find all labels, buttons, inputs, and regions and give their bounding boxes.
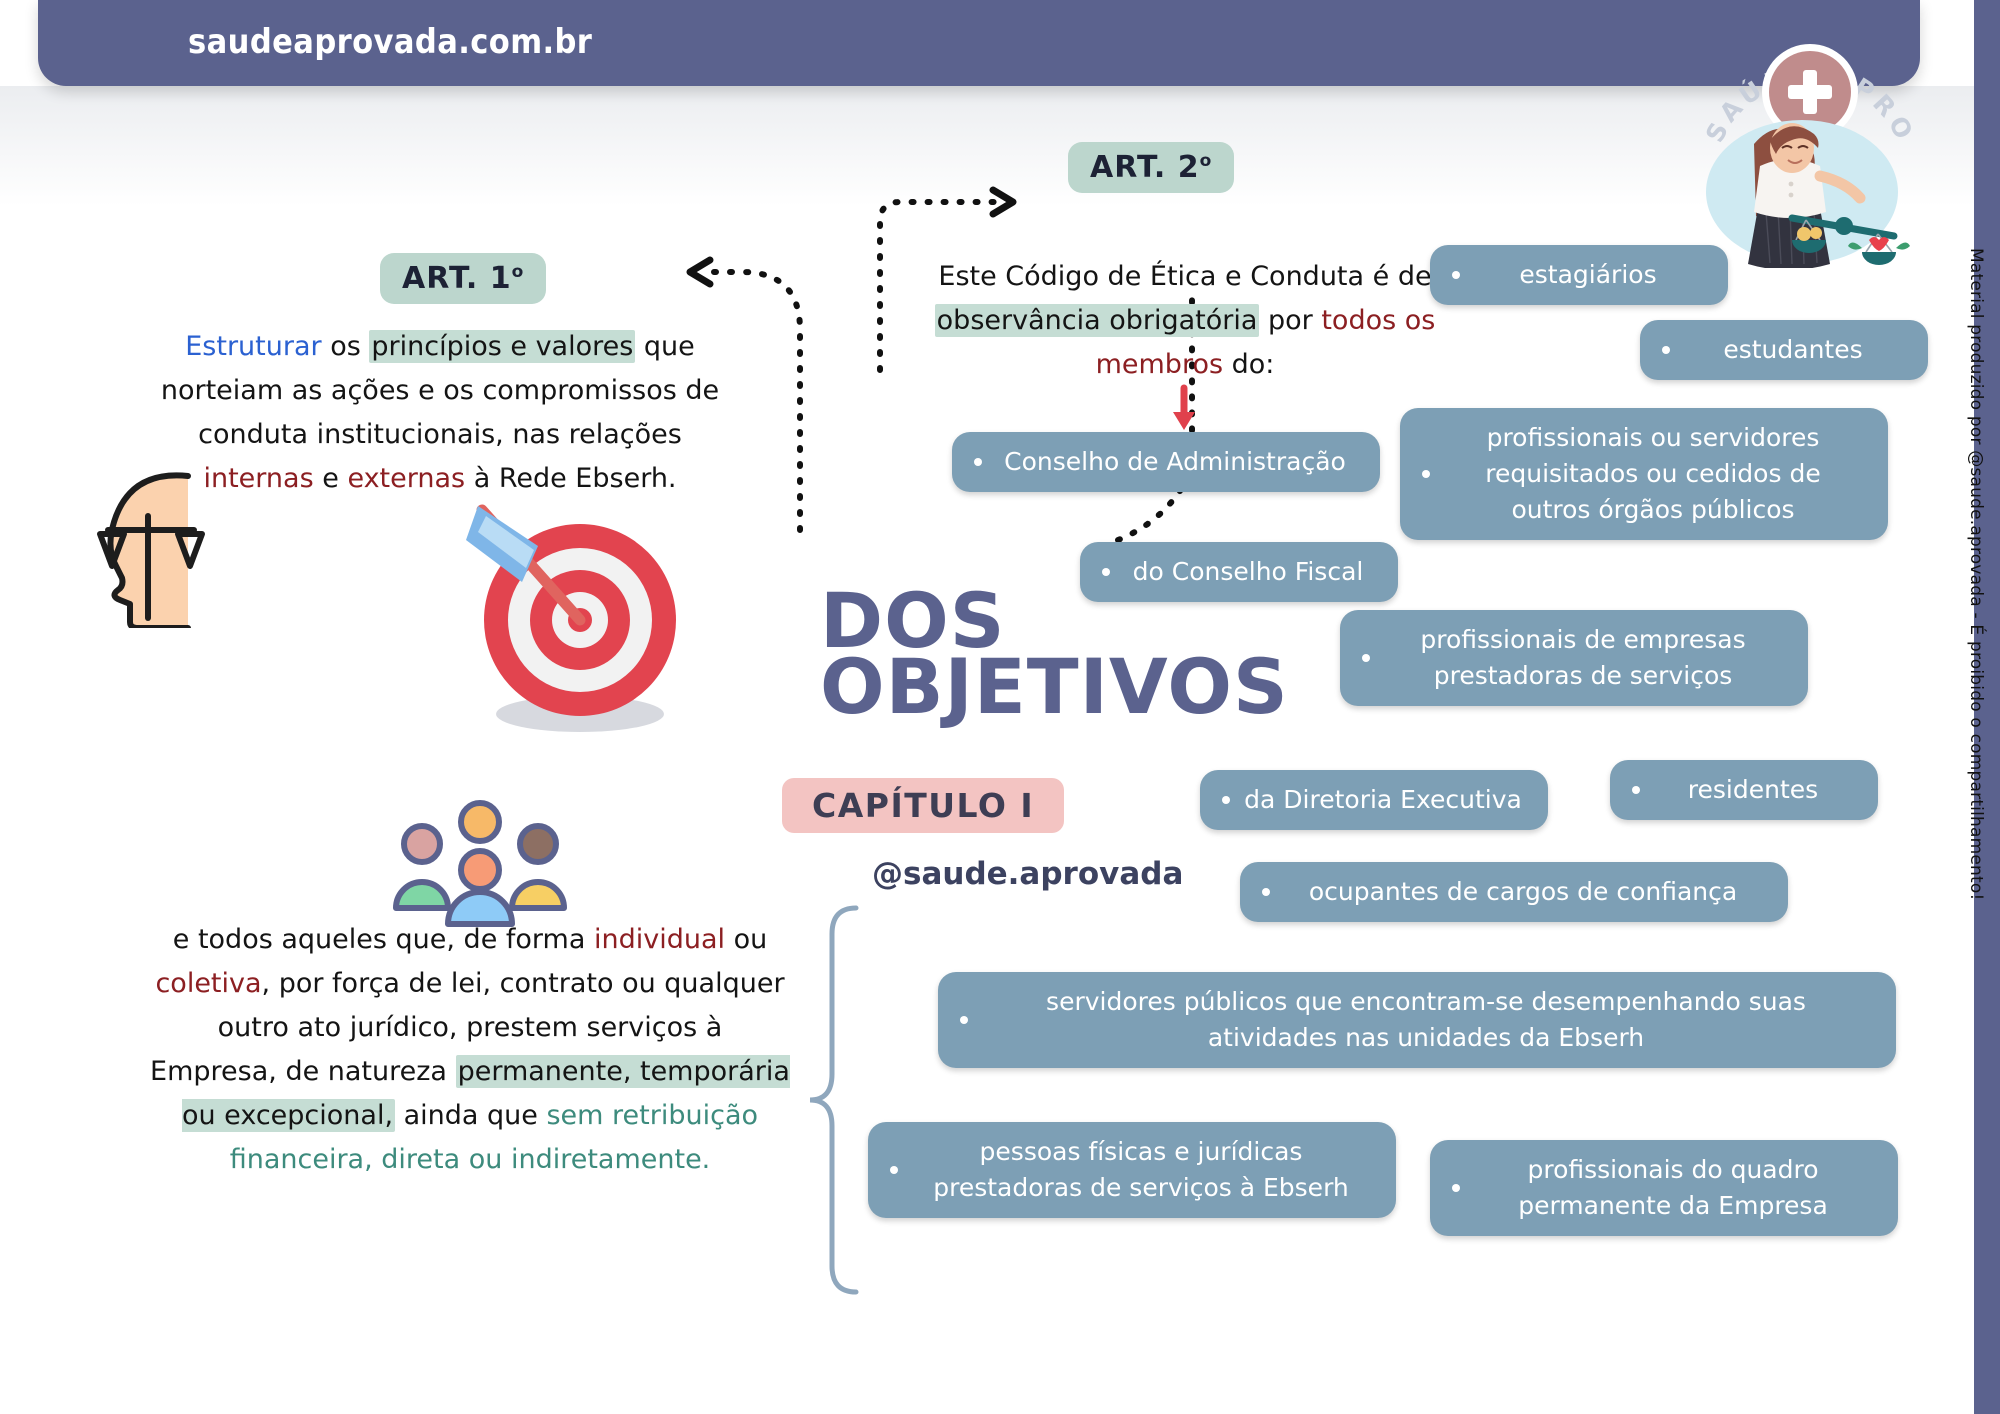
list-item[interactable]: da Diretoria Executiva	[1200, 770, 1548, 830]
bullet-icon	[1262, 888, 1270, 896]
member-label: do Conselho Fiscal	[1124, 554, 1372, 590]
member-label: residentes	[1654, 772, 1852, 808]
list-item[interactable]: servidores públicos que encontram-se des…	[938, 972, 1896, 1068]
art3-seg-1: individual	[594, 924, 725, 955]
art1-seg-5: e	[314, 463, 348, 494]
red-down-arrow-icon	[1173, 388, 1195, 430]
art1-seg-6: externas	[347, 463, 465, 494]
copyright-note: Material produzido por @saude.aprovada -…	[1966, 248, 1986, 901]
site-url: saudeaprovada.com.br	[188, 22, 592, 62]
list-item[interactable]: ocupantes de cargos de confiança	[1240, 862, 1788, 922]
chapter-badge: CAPÍTULO I	[782, 778, 1064, 833]
list-item[interactable]: profissionais de empresas prestadoras de…	[1340, 610, 1808, 706]
member-label: da Diretoria Executiva	[1244, 782, 1522, 818]
bullet-icon	[1222, 796, 1230, 804]
member-label: profissionais ou servidores requisitados…	[1444, 420, 1862, 528]
bullet-icon	[974, 458, 982, 466]
bullet-icon	[890, 1166, 898, 1174]
bullet-icon	[1632, 786, 1640, 794]
art2-seg-1: observância obrigatória	[935, 304, 1260, 337]
list-item[interactable]: estudantes	[1640, 320, 1928, 380]
art1-seg-1: os	[322, 331, 370, 362]
list-item[interactable]: profissionais ou servidores requisitados…	[1400, 408, 1888, 540]
infographic-canvas: saudeaprovada.com.br SAÚDE APROVADA	[0, 0, 2000, 1414]
head-with-scales-icon	[78, 468, 228, 628]
list-item[interactable]: do Conselho Fiscal	[1080, 542, 1398, 602]
art3-seg-0: e todos aqueles que, de forma	[173, 924, 594, 955]
art3-seg-2: ou	[725, 924, 767, 955]
art1-badge-label: ART. 1	[402, 261, 512, 296]
member-label: ocupantes de cargos de confiança	[1284, 874, 1762, 910]
list-item[interactable]: Conselho de Administração	[952, 432, 1380, 492]
art2-seg-0: Este Código de Ética e Conduta é de	[938, 261, 1431, 292]
social-handle: @saude.aprovada	[872, 856, 1183, 892]
bullet-icon	[1452, 1184, 1460, 1192]
member-label: pessoas físicas e jurídicas prestadoras …	[912, 1134, 1370, 1206]
art3-seg-3: coletiva	[155, 968, 261, 999]
list-item[interactable]: pessoas físicas e jurídicas prestadoras …	[868, 1122, 1396, 1218]
member-label: estudantes	[1684, 332, 1902, 368]
list-item[interactable]: profissionais do quadro permanente da Em…	[1430, 1140, 1898, 1236]
list-item[interactable]: residentes	[1610, 760, 1878, 820]
art2-seg-4: do:	[1223, 349, 1274, 380]
member-label: Conselho de Administração	[996, 444, 1354, 480]
title-line-2: OBJETIVOS	[820, 654, 1180, 720]
member-label: servidores públicos que encontram-se des…	[982, 984, 1870, 1056]
header-bar: saudeaprovada.com.br	[38, 0, 1920, 86]
bullet-icon	[960, 1016, 968, 1024]
art1-badge-sup: o	[512, 262, 525, 282]
art1-seg-7: à Rede Ebserh.	[465, 463, 676, 494]
art2-seg-2: por	[1259, 305, 1321, 336]
dartboard-target-icon	[460, 500, 710, 740]
art2-badge-label: ART. 2	[1090, 150, 1200, 185]
bullet-icon	[1662, 346, 1670, 354]
art2-badge: ART. 2o	[1068, 142, 1234, 193]
art1-seg-2: princípios e valores	[369, 330, 635, 363]
bullet-icon	[1362, 654, 1370, 662]
list-item[interactable]: estagiários	[1430, 245, 1728, 305]
art1-text: Estruturar os princípios e valores que n…	[155, 325, 725, 501]
member-label: estagiários	[1474, 257, 1702, 293]
brand-logo: SAÚDE APROVADA	[1690, 14, 1930, 254]
art3-seg-6: ainda que	[395, 1100, 546, 1131]
bullet-icon	[1422, 470, 1430, 478]
bullet-icon	[1102, 568, 1110, 576]
member-label: profissionais do quadro permanente da Em…	[1474, 1152, 1872, 1224]
art2-badge-sup: o	[1200, 151, 1213, 171]
bullet-icon	[1452, 271, 1460, 279]
art3-text: e todos aqueles que, de forma individual…	[150, 918, 790, 1182]
art1-badge: ART. 1o	[380, 253, 546, 304]
art1-seg-0: Estruturar	[185, 331, 321, 362]
page-title: DOS OBJETIVOS	[820, 588, 1180, 720]
woman-with-scales-illustration	[1696, 100, 1926, 268]
art2-text: Este Código de Ética e Conduta é de obse…	[905, 255, 1465, 387]
member-label: profissionais de empresas prestadoras de…	[1384, 622, 1782, 694]
people-group-icon	[390, 800, 570, 930]
